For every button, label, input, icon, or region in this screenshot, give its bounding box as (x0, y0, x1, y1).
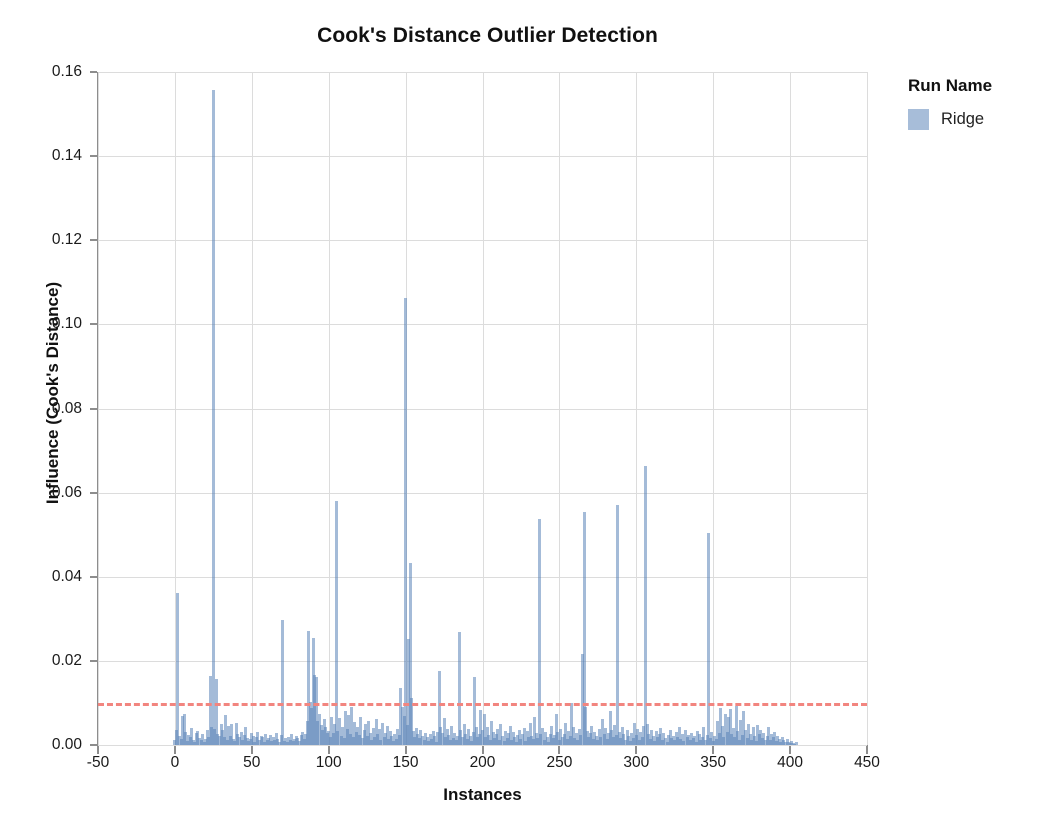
y-tick-label: 0.16 (22, 63, 82, 81)
bar (212, 90, 215, 745)
x-tick-label: 100 (294, 754, 364, 772)
x-tick-label: 150 (371, 754, 441, 772)
y-tick-label: 0.00 (22, 736, 82, 754)
x-tick-mark (97, 746, 99, 754)
x-tick-label: 400 (755, 754, 825, 772)
bar (795, 742, 798, 745)
plot-area (98, 72, 867, 745)
threshold-line (98, 703, 867, 706)
bar (538, 519, 541, 745)
y-tick-mark (90, 576, 97, 578)
gridline-vertical (867, 72, 868, 745)
bar (707, 533, 710, 745)
y-tick-mark (90, 744, 97, 746)
bar (176, 593, 179, 745)
chart-title: Cook's Distance Outlier Detection (0, 24, 975, 48)
y-tick-label: 0.12 (22, 231, 82, 249)
y-tick-label: 0.04 (22, 568, 82, 586)
y-tick-label: 0.14 (22, 147, 82, 165)
bar (616, 505, 619, 745)
x-tick-mark (789, 746, 791, 754)
y-tick-label: 0.02 (22, 652, 82, 670)
gridline-vertical (559, 72, 560, 745)
gridline-vertical (713, 72, 714, 745)
y-tick-label: 0.08 (22, 400, 82, 418)
x-tick-label: 250 (524, 754, 594, 772)
bar (335, 501, 338, 745)
x-tick-label: 300 (601, 754, 671, 772)
y-tick-label: 0.06 (22, 484, 82, 502)
x-tick-label: 350 (678, 754, 748, 772)
x-tick-mark (635, 746, 637, 754)
x-tick-mark (866, 746, 868, 754)
legend: Run Name Ridge (908, 76, 1038, 130)
legend-swatch (908, 109, 929, 130)
x-tick-label: 200 (448, 754, 518, 772)
gridline-vertical (98, 72, 99, 745)
x-tick-label: -50 (63, 754, 133, 772)
y-tick-mark (90, 323, 97, 325)
legend-label: Ridge (941, 110, 984, 129)
x-tick-mark (712, 746, 714, 754)
y-tick-mark (90, 239, 97, 241)
gridline-vertical (790, 72, 791, 745)
y-tick-label: 0.10 (22, 315, 82, 333)
cooks-distance-chart: Cook's Distance Outlier Detection Influe… (0, 0, 1040, 840)
x-tick-mark (251, 746, 253, 754)
y-tick-mark (90, 155, 97, 157)
gridline-vertical (636, 72, 637, 745)
y-tick-mark (90, 492, 97, 494)
x-tick-label: 450 (832, 754, 902, 772)
x-tick-mark (174, 746, 176, 754)
gridline-horizontal (98, 745, 867, 746)
y-tick-mark (90, 660, 97, 662)
bar (458, 632, 461, 745)
x-tick-mark (558, 746, 560, 754)
gridline-vertical (483, 72, 484, 745)
legend-entries: Ridge (908, 109, 1038, 130)
x-tick-label: 50 (217, 754, 287, 772)
legend-item[interactable]: Ridge (908, 109, 1038, 130)
y-tick-mark (90, 408, 97, 410)
x-tick-mark (405, 746, 407, 754)
x-tick-label: 0 (140, 754, 210, 772)
x-tick-mark (482, 746, 484, 754)
x-tick-mark (328, 746, 330, 754)
gridline-vertical (329, 72, 330, 745)
y-tick-mark (90, 71, 97, 73)
gridline-vertical (252, 72, 253, 745)
legend-title: Run Name (908, 76, 1038, 96)
x-axis-title: Instances (98, 785, 867, 805)
bar (281, 620, 284, 745)
